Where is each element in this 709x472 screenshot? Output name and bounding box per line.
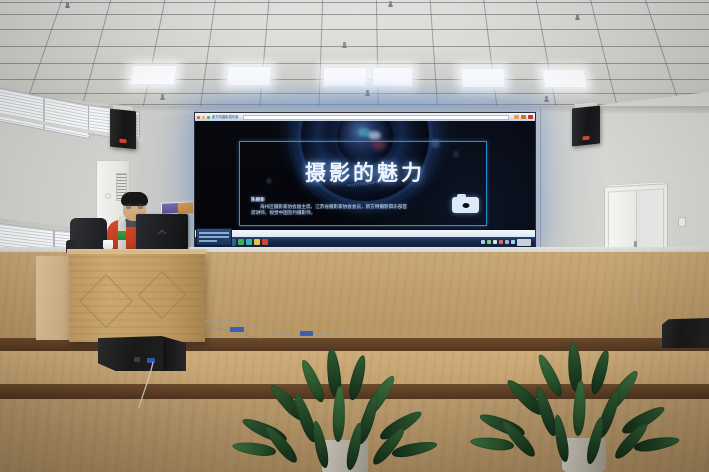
speaker-bio-block: 陈继新 海州区摄影家协会副主席，江苏省摄影家协会会员，新方特摄影俱乐部首席讲师，… xyxy=(251,197,411,217)
podium xyxy=(69,252,205,342)
address-bar[interactable] xyxy=(243,115,509,120)
glasses-icon xyxy=(124,204,145,209)
sprinkler-icon xyxy=(66,2,69,7)
light-switch[interactable] xyxy=(678,217,686,228)
paper-cup xyxy=(103,240,113,249)
windows-taskbar[interactable] xyxy=(195,237,535,247)
sprinkler-icon xyxy=(389,1,392,6)
close-button[interactable] xyxy=(528,115,533,119)
sprinkler-icon xyxy=(576,14,579,19)
speaker-jack-blue xyxy=(147,358,155,363)
jbl-logo-icon xyxy=(120,139,127,144)
plant-left xyxy=(264,342,434,462)
speaker-name: 陈继新 xyxy=(251,197,411,203)
stage-monitor-left xyxy=(98,336,186,371)
led-display-screen: 新方特摄影俱乐部 PHOTOGRAPHY 摄影的魅力 陈继新 xyxy=(194,112,536,248)
minimize-button[interactable] xyxy=(514,115,519,119)
taskbar-icon-teal[interactable] xyxy=(246,239,252,245)
laptop[interactable] xyxy=(136,214,188,250)
camera-icon xyxy=(452,194,479,213)
podium-side-panel xyxy=(36,256,70,340)
plant-right xyxy=(504,338,670,458)
maximize-button[interactable] xyxy=(521,115,526,119)
taskbar-icon-yellow[interactable] xyxy=(254,239,260,245)
ceiling xyxy=(0,0,709,116)
taskbar-icon-red[interactable] xyxy=(262,239,268,245)
presentation-slide: PHOTOGRAPHY 摄影的魅力 陈继新 海州区摄影家协会副主席，江苏省摄影家… xyxy=(195,121,535,239)
app-window-strip[interactable] xyxy=(195,230,535,237)
speaker-jack-dark xyxy=(134,357,140,362)
slide-title: 摄影的魅力 xyxy=(195,162,535,186)
taskbar-clock[interactable] xyxy=(517,239,531,246)
wall-speaker-right xyxy=(572,106,600,147)
sprinkler-icon xyxy=(343,42,346,47)
bottle-label xyxy=(118,231,126,240)
conference-room-photo: 新方特摄影俱乐部 PHOTOGRAPHY 摄影的魅力 陈继新 xyxy=(0,0,709,472)
speaker-bio: 海州区摄影家协会副主席，江苏省摄影家协会会员，新方特摄影俱乐部首席讲师，视觉中国… xyxy=(251,204,411,217)
browser-toolbar[interactable]: 新方特摄影俱乐部 xyxy=(195,113,535,121)
system-tray[interactable] xyxy=(481,239,533,246)
laptop-logo-icon xyxy=(156,229,168,235)
wall-speaker-left xyxy=(110,109,136,150)
jbl-logo-icon xyxy=(583,136,590,141)
auxiliary-monitor xyxy=(196,228,232,246)
taskbar-icon-green[interactable] xyxy=(238,239,244,245)
browser-tab-label[interactable]: 新方特摄影俱乐部 xyxy=(212,115,238,120)
